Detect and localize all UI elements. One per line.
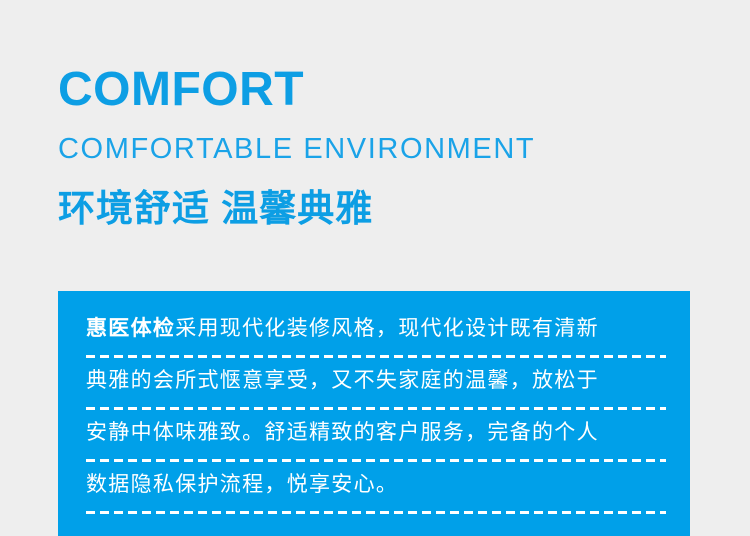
description-line-text: 惠医体检采用现代化装修风格，现代化设计既有清新 bbox=[86, 314, 666, 344]
comfort-section-page: COMFORT COMFORTABLE ENVIRONMENT 环境舒适 温馨典… bbox=[0, 0, 750, 536]
page-title-english: COMFORT bbox=[58, 66, 718, 114]
description-line-text: 数据隐私保护流程，悦享安心。 bbox=[86, 470, 666, 500]
dashed-divider bbox=[86, 355, 666, 358]
description-panel: 惠医体检采用现代化装修风格，现代化设计既有清新 典雅的会所式惬意享受，又不失家庭… bbox=[58, 291, 690, 536]
brand-name: 惠医体检 bbox=[86, 317, 175, 340]
dashed-divider bbox=[86, 511, 666, 514]
heading-block: COMFORT COMFORTABLE ENVIRONMENT 环境舒适 温馨典… bbox=[58, 66, 718, 227]
description-line: 安静中体味雅致。舒适精致的客户服务，完备的个人 bbox=[86, 418, 666, 470]
description-line-rest: 安静中体味雅致。舒适精致的客户服务，完备的个人 bbox=[86, 421, 599, 444]
description-line: 数据隐私保护流程，悦享安心。 bbox=[86, 470, 666, 522]
description-panel-inner: 惠医体检采用现代化装修风格，现代化设计既有清新 典雅的会所式惬意享受，又不失家庭… bbox=[86, 314, 666, 522]
description-line: 惠医体检采用现代化装修风格，现代化设计既有清新 bbox=[86, 314, 666, 366]
dashed-divider bbox=[86, 407, 666, 410]
page-title-chinese: 环境舒适 温馨典雅 bbox=[58, 190, 718, 227]
description-line-rest: 采用现代化装修风格，现代化设计既有清新 bbox=[175, 317, 599, 340]
description-line: 典雅的会所式惬意享受，又不失家庭的温馨，放松于 bbox=[86, 366, 666, 418]
description-line-text: 安静中体味雅致。舒适精致的客户服务，完备的个人 bbox=[86, 418, 666, 448]
description-line-text: 典雅的会所式惬意享受，又不失家庭的温馨，放松于 bbox=[86, 366, 666, 396]
dashed-divider bbox=[86, 459, 666, 462]
page-subtitle-english: COMFORTABLE ENVIRONMENT bbox=[58, 135, 718, 164]
description-line-rest: 典雅的会所式惬意享受，又不失家庭的温馨，放松于 bbox=[86, 369, 599, 392]
description-line-rest: 数据隐私保护流程，悦享安心。 bbox=[86, 473, 398, 496]
